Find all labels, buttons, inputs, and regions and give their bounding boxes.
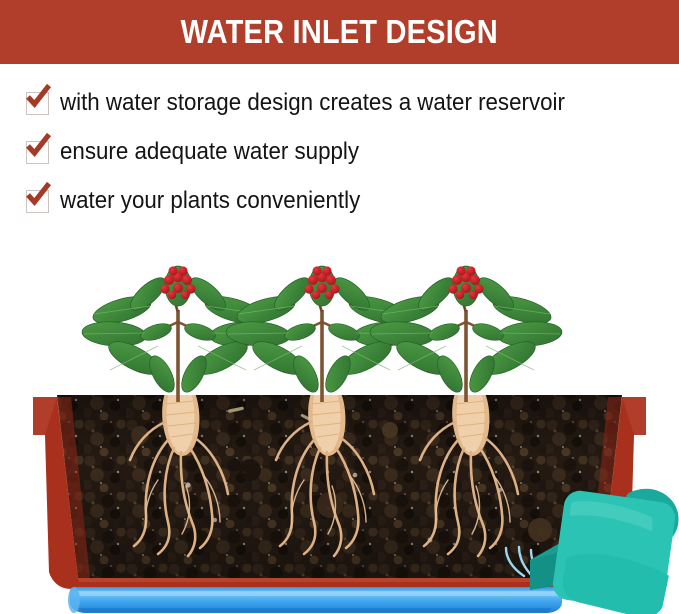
- feature-label: ensure adequate water supply: [60, 140, 359, 164]
- header-banner: WATER INLET DESIGN: [0, 0, 679, 64]
- feature-label: water your plants conveniently: [60, 189, 360, 213]
- can-body: [551, 489, 677, 614]
- watering-can: [486, 468, 679, 614]
- feature-item: water your plants conveniently: [26, 184, 383, 218]
- ginseng-plant-right: [366, 262, 566, 402]
- check-icon: [26, 190, 49, 213]
- feature-list: with water storage design creates a wate…: [0, 64, 679, 240]
- page-title: WATER INLET DESIGN: [181, 13, 498, 51]
- product-illustration: [0, 240, 679, 614]
- check-icon: [26, 141, 49, 164]
- feature-label: with water storage design creates a wate…: [60, 91, 565, 115]
- feature-item: with water storage design creates a wate…: [26, 86, 603, 120]
- feature-item: ensure adequate water supply: [26, 135, 382, 169]
- check-icon: [26, 92, 49, 115]
